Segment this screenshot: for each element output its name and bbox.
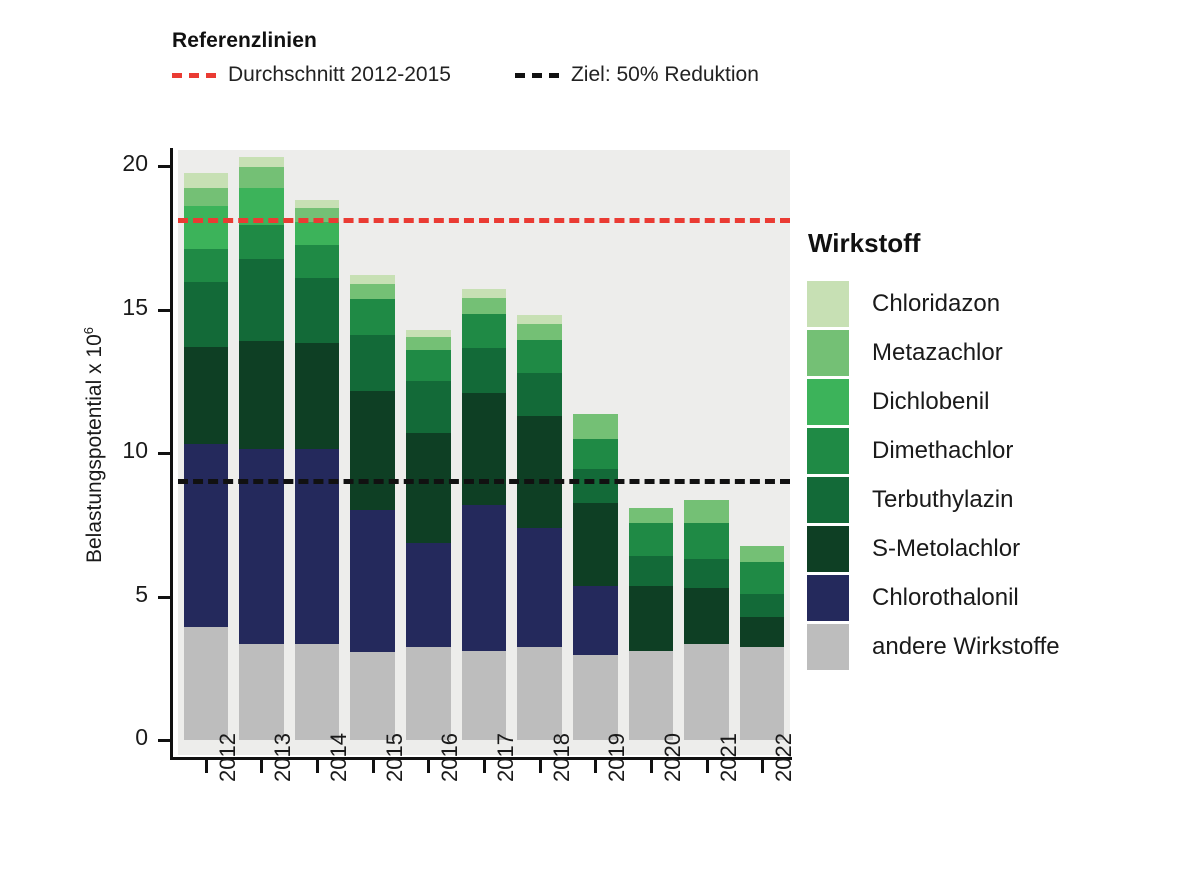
y-axis-title-exponent: 6 <box>81 327 96 334</box>
bar-segment-chlorothalonil[interactable] <box>517 528 562 647</box>
y-axis-tick-label: 0 <box>88 724 148 751</box>
bar-segment-chlorothalonil[interactable] <box>573 586 618 655</box>
bar-segment-dimethachlor[interactable] <box>684 523 729 559</box>
bar-segment-andere-wirkstoffe[interactable] <box>239 644 284 740</box>
chart-figure: Referenzlinien Durchschnitt 2012-2015 Zi… <box>0 0 1200 888</box>
y-axis-tick <box>158 452 172 455</box>
bar-segment-dimethachlor[interactable] <box>406 350 451 382</box>
bar-segment-chloridazon[interactable] <box>517 315 562 324</box>
bar-segment-terbuthylazin[interactable] <box>573 469 618 503</box>
legend-label: Dimethachlor <box>872 437 1013 465</box>
x-axis-tick <box>539 760 542 773</box>
legend-swatch-icon <box>806 574 850 622</box>
bar-segment-chloridazon[interactable] <box>462 289 507 298</box>
bar-segment-metazachlor[interactable] <box>350 284 395 300</box>
legend-swatch-icon <box>806 378 850 426</box>
bar-segment-s-metolachlor[interactable] <box>406 433 451 543</box>
bar-segment-s-metolachlor[interactable] <box>184 347 229 445</box>
y-axis-tick <box>158 309 172 312</box>
legend-label: Terbuthylazin <box>872 486 1013 514</box>
bar-2017[interactable] <box>462 289 507 740</box>
reference-legend-item-target: Ziel: 50% Reduktion <box>515 62 759 88</box>
bar-segment-chloridazon[interactable] <box>295 200 340 207</box>
bar-segment-terbuthylazin[interactable] <box>517 373 562 416</box>
bar-segment-metazachlor[interactable] <box>517 324 562 340</box>
x-axis-tick <box>483 760 486 773</box>
bar-segment-s-metolachlor[interactable] <box>239 341 284 449</box>
legend-swatch-icon <box>806 280 850 328</box>
reference-legend-title: Referenzlinien <box>172 28 952 54</box>
bar-segment-andere-wirkstoffe[interactable] <box>629 651 674 740</box>
x-axis-tick-label-2020: 2020 <box>660 733 686 782</box>
bar-segment-andere-wirkstoffe[interactable] <box>184 627 229 740</box>
bar-segment-chlorothalonil[interactable] <box>184 444 229 626</box>
bar-segment-s-metolachlor[interactable] <box>350 391 395 510</box>
bar-segment-dimethachlor[interactable] <box>629 523 674 556</box>
x-axis-tick-label-2016: 2016 <box>437 733 463 782</box>
x-axis-tick-label-2015: 2015 <box>382 733 408 782</box>
bar-segment-s-metolachlor[interactable] <box>684 588 729 644</box>
bar-2016[interactable] <box>406 330 451 740</box>
bar-segment-metazachlor[interactable] <box>684 500 729 523</box>
x-axis-tick <box>260 760 263 773</box>
bar-segment-s-metolachlor[interactable] <box>295 343 340 449</box>
x-axis-tick <box>316 760 319 773</box>
bar-segment-terbuthylazin[interactable] <box>462 348 507 392</box>
bar-segment-terbuthylazin[interactable] <box>406 381 451 433</box>
y-axis-tick <box>158 596 172 599</box>
reference-legend-item-average: Durchschnitt 2012-2015 <box>172 62 451 88</box>
bar-segment-terbuthylazin[interactable] <box>629 556 674 586</box>
bar-segment-metazachlor[interactable] <box>573 414 618 438</box>
y-axis-tick-label: 5 <box>88 581 148 608</box>
legend-swatch-icon <box>806 623 850 671</box>
bar-segment-dichlobenil[interactable] <box>239 188 284 225</box>
x-axis-tick <box>594 760 597 773</box>
dashed-line-red-icon <box>172 73 216 78</box>
bar-2012[interactable] <box>184 173 229 740</box>
x-axis-tick-label-2017: 2017 <box>493 733 519 782</box>
legend-item-chloridazon[interactable]: Chloridazon <box>806 279 1186 328</box>
bar-segment-s-metolachlor[interactable] <box>573 503 618 586</box>
y-axis-tick-label: 10 <box>88 437 148 464</box>
bar-segment-chlorothalonil[interactable] <box>350 510 395 652</box>
bar-segment-dimethachlor[interactable] <box>573 439 618 469</box>
x-axis-tick <box>706 760 709 773</box>
reference-legend-label-average: Durchschnitt 2012-2015 <box>228 62 451 88</box>
bar-2022[interactable] <box>740 546 785 740</box>
bar-segment-andere-wirkstoffe[interactable] <box>740 647 785 740</box>
legend-label: Metazachlor <box>872 339 1003 367</box>
bar-segment-dimethachlor[interactable] <box>239 225 284 259</box>
bar-segment-s-metolachlor[interactable] <box>517 416 562 528</box>
series-legend-rows: ChloridazonMetazachlorDichlobenilDimetha… <box>806 279 1186 671</box>
bar-segment-terbuthylazin[interactable] <box>350 335 395 391</box>
bar-2019[interactable] <box>573 414 618 740</box>
bar-segment-chloridazon[interactable] <box>350 275 395 284</box>
legend-label: andere Wirkstoffe <box>872 633 1060 661</box>
legend-label: Chloridazon <box>872 290 1000 318</box>
y-axis-tick-label: 20 <box>88 150 148 177</box>
bar-segment-andere-wirkstoffe[interactable] <box>406 647 451 740</box>
x-axis-tick-label-2018: 2018 <box>549 733 575 782</box>
x-axis-tick-label-2021: 2021 <box>716 733 742 782</box>
bar-2020[interactable] <box>629 508 674 740</box>
legend-item-chlorothalonil[interactable]: Chlorothalonil <box>806 573 1186 622</box>
bar-segment-terbuthylazin[interactable] <box>684 559 729 588</box>
legend-item-dimethachlor[interactable]: Dimethachlor <box>806 426 1186 475</box>
x-axis-tick <box>761 760 764 773</box>
x-axis-tick-label-2014: 2014 <box>326 733 352 782</box>
bar-segment-dimethachlor[interactable] <box>517 340 562 373</box>
x-axis-tick-label-2022: 2022 <box>771 733 797 782</box>
y-axis-tick <box>158 739 172 742</box>
bar-segment-metazachlor[interactable] <box>462 298 507 314</box>
bar-2018[interactable] <box>517 315 562 740</box>
bar-segment-s-metolachlor[interactable] <box>462 393 507 505</box>
legend-item-metazachlor[interactable]: Metazachlor <box>806 328 1186 377</box>
legend-swatch-icon <box>806 476 850 524</box>
bar-2013[interactable] <box>239 157 284 740</box>
bar-segment-dimethachlor[interactable] <box>350 299 395 335</box>
bar-segment-andere-wirkstoffe[interactable] <box>517 647 562 740</box>
series-legend-title: Wirkstoff <box>806 228 1186 259</box>
bar-segment-dimethachlor[interactable] <box>740 562 785 594</box>
y-axis-tick <box>158 165 172 168</box>
bar-2015[interactable] <box>350 275 395 740</box>
x-axis-tick <box>372 760 375 773</box>
bar-segment-terbuthylazin[interactable] <box>295 278 340 343</box>
bar-segment-chlorothalonil[interactable] <box>462 505 507 651</box>
bar-segment-andere-wirkstoffe[interactable] <box>462 651 507 740</box>
x-axis-tick <box>205 760 208 773</box>
bar-segment-metazachlor[interactable] <box>740 546 785 562</box>
legend-item-terbuthylazin[interactable]: Terbuthylazin <box>806 475 1186 524</box>
legend-swatch-icon <box>806 525 850 573</box>
legend-item-andere-wirkstoffe[interactable]: andere Wirkstoffe <box>806 622 1186 671</box>
bar-segment-andere-wirkstoffe[interactable] <box>684 644 729 740</box>
bar-segment-metazachlor[interactable] <box>629 508 674 524</box>
bar-segment-andere-wirkstoffe[interactable] <box>350 652 395 740</box>
bar-segment-terbuthylazin[interactable] <box>184 282 229 347</box>
bar-segment-chlorothalonil[interactable] <box>295 449 340 644</box>
bar-2021[interactable] <box>684 500 729 740</box>
bar-segment-dimethachlor[interactable] <box>184 249 229 282</box>
bar-segment-chloridazon[interactable] <box>184 173 229 187</box>
bar-segment-terbuthylazin[interactable] <box>239 259 284 341</box>
legend-swatch-icon <box>806 427 850 475</box>
bar-segment-dichlobenil[interactable] <box>295 222 340 245</box>
x-axis-tick-label-2012: 2012 <box>215 733 241 782</box>
plot-area <box>178 150 790 755</box>
x-axis-tick <box>427 760 430 773</box>
bar-segment-dimethachlor[interactable] <box>462 314 507 348</box>
bar-segment-metazachlor[interactable] <box>239 167 284 187</box>
legend-item-dichlobenil[interactable]: Dichlobenil <box>806 377 1186 426</box>
bar-segment-andere-wirkstoffe[interactable] <box>573 655 618 740</box>
dashed-line-black-icon <box>515 73 559 78</box>
bar-segment-chloridazon[interactable] <box>239 157 284 167</box>
x-axis-tick-label-2013: 2013 <box>270 733 296 782</box>
legend-label: Chlorothalonil <box>872 584 1019 612</box>
bar-segment-chlorothalonil[interactable] <box>406 543 451 646</box>
bar-segment-metazachlor[interactable] <box>295 208 340 222</box>
bar-segment-andere-wirkstoffe[interactable] <box>295 644 340 740</box>
legend-item-s-metolachlor[interactable]: S-Metolachlor <box>806 524 1186 573</box>
bar-segment-s-metolachlor[interactable] <box>629 586 674 651</box>
x-axis-tick-label-2019: 2019 <box>604 733 630 782</box>
x-axis-tick <box>650 760 653 773</box>
reference-legend-label-target: Ziel: 50% Reduktion <box>571 62 759 88</box>
bar-segment-chlorothalonil[interactable] <box>239 449 284 644</box>
bar-segment-s-metolachlor[interactable] <box>740 617 785 647</box>
bar-segment-chloridazon[interactable] <box>406 330 451 337</box>
bar-segment-dichlobenil[interactable] <box>184 206 229 249</box>
series-legend: Wirkstoff ChloridazonMetazachlorDichlobe… <box>806 228 1186 671</box>
y-axis-tick-label: 15 <box>88 294 148 321</box>
bar-segment-metazachlor[interactable] <box>406 337 451 350</box>
bar-segment-terbuthylazin[interactable] <box>740 594 785 617</box>
legend-label: Dichlobenil <box>872 388 989 416</box>
bar-segment-dimethachlor[interactable] <box>295 245 340 278</box>
legend-label: S-Metolachlor <box>872 535 1020 563</box>
legend-swatch-icon <box>806 329 850 377</box>
bar-segment-metazachlor[interactable] <box>184 188 229 207</box>
bar-2014[interactable] <box>295 200 340 740</box>
reference-line-legend: Referenzlinien Durchschnitt 2012-2015 Zi… <box>172 28 952 88</box>
